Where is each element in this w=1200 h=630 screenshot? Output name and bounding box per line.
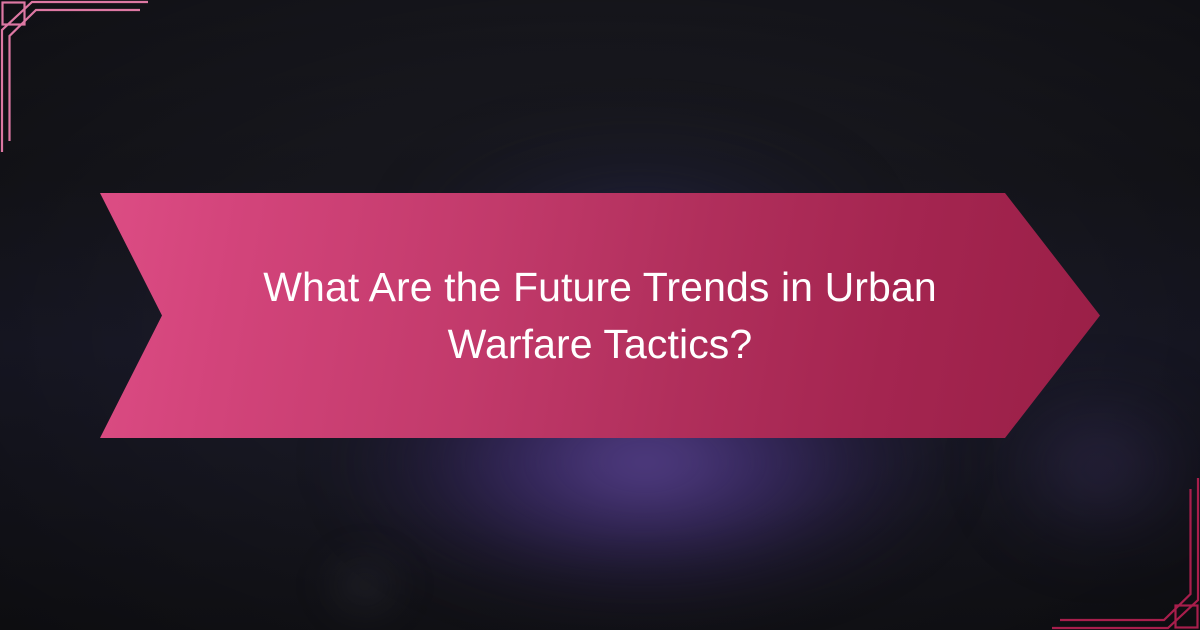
page-title: What Are the Future Trends in Urban Warf… [100,193,1100,438]
share-card-canvas: What Are the Future Trends in Urban Warf… [0,0,1200,630]
title-banner: What Are the Future Trends in Urban Warf… [100,193,1100,438]
